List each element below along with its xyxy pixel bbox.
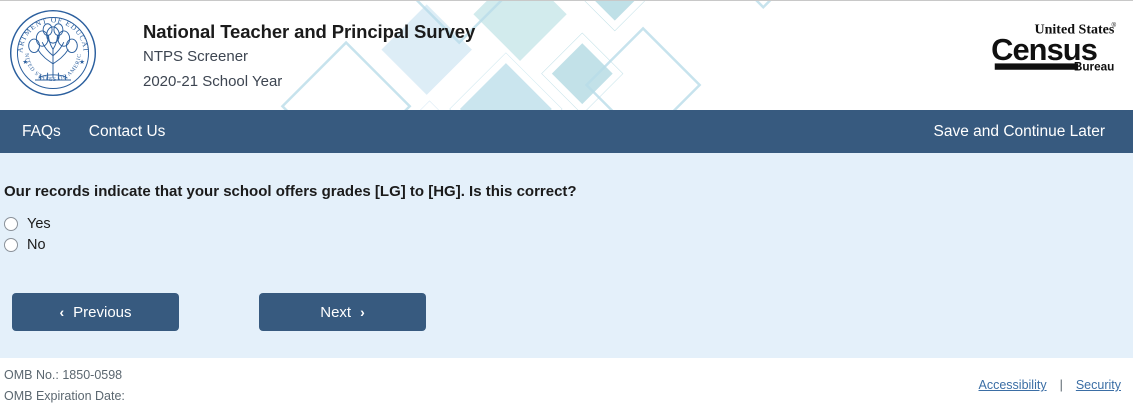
svg-text:Bureau: Bureau	[1074, 61, 1115, 74]
chevron-right-icon: ›	[360, 305, 365, 319]
svg-text:★: ★	[22, 59, 28, 66]
department-of-education-seal-icon: DEPARTMENT OF EDUCATION UNITED STATES OF…	[8, 8, 98, 98]
footer-link-separator: |	[1060, 378, 1063, 392]
page-header: DEPARTMENT OF EDUCATION UNITED STATES OF…	[0, 0, 1133, 110]
radio-option-no[interactable]: No	[4, 237, 46, 253]
us-census-bureau-logo: United States ® Census Bureau	[973, 19, 1118, 75]
omb-expiration-date: OMB Expiration Date:	[4, 386, 125, 407]
radio-label-yes: Yes	[27, 216, 51, 232]
footer-link-accessibility[interactable]: Accessibility	[979, 378, 1047, 392]
nav-links-group: FAQs Contact Us	[8, 123, 179, 141]
svg-text:®: ®	[1112, 21, 1117, 29]
radio-option-yes[interactable]: Yes	[4, 216, 51, 232]
omb-info-block: OMB No.: 1850-0598 OMB Expiration Date:	[4, 365, 125, 406]
page-title: National Teacher and Principal Survey	[143, 20, 475, 43]
svg-text:★: ★	[79, 59, 85, 66]
chevron-left-icon: ‹	[59, 305, 64, 319]
survey-content-area: Our records indicate that your school of…	[0, 153, 1133, 358]
previous-button-label: Previous	[73, 304, 131, 321]
page-footer: OMB No.: 1850-0598 OMB Expiration Date: …	[0, 358, 1133, 411]
previous-button[interactable]: ‹ Previous	[12, 293, 179, 331]
radio-label-no: No	[27, 237, 46, 253]
radio-button-yes-icon[interactable]	[4, 217, 18, 231]
footer-links-group: Accessibility | Security	[979, 365, 1121, 392]
omb-number: OMB No.: 1850-0598	[4, 365, 125, 386]
nav-right-group: Save and Continue Later	[920, 123, 1125, 141]
nav-link-faqs[interactable]: FAQs	[8, 123, 75, 141]
nav-link-contact-us[interactable]: Contact Us	[75, 123, 180, 141]
school-year: 2020-21 School Year	[143, 70, 475, 93]
footer-link-security[interactable]: Security	[1076, 378, 1121, 392]
next-button[interactable]: Next ›	[259, 293, 426, 331]
secondary-navigation-bar: FAQs Contact Us Save and Continue Later	[0, 110, 1133, 153]
save-and-continue-later-link[interactable]: Save and Continue Later	[920, 123, 1119, 140]
radio-button-no-icon[interactable]	[4, 238, 18, 252]
page-subtitle: NTPS Screener	[143, 45, 475, 68]
question-text: Our records indicate that your school of…	[4, 183, 1133, 200]
survey-title-block: National Teacher and Principal Survey NT…	[143, 1, 475, 94]
next-button-label: Next	[320, 304, 351, 321]
navigation-buttons-group: ‹ Previous Next ›	[4, 293, 1133, 331]
